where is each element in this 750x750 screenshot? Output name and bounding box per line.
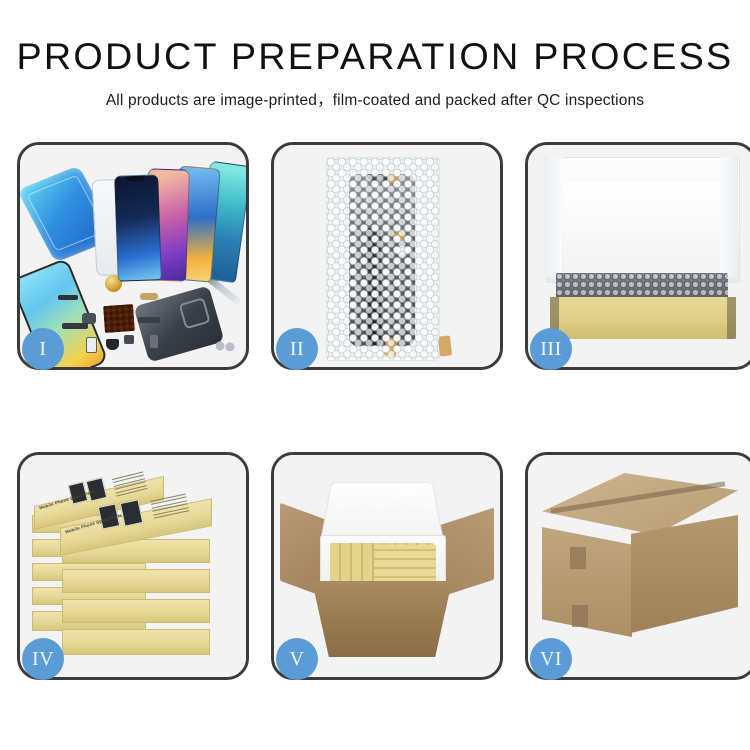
bubble-bag	[326, 157, 440, 361]
carton-tape-top	[570, 547, 586, 569]
step-badge-6: VI	[530, 638, 572, 680]
retail-box-fr-2	[62, 569, 210, 593]
component-chip-1	[58, 295, 78, 300]
phone-fan-group	[116, 159, 246, 281]
step-panel-5[interactable]: V	[271, 452, 503, 680]
phone-icon-1	[114, 174, 162, 281]
step-badge-1: I	[22, 328, 64, 370]
tape-piece-4	[438, 335, 452, 356]
product-preparation-infographic: PRODUCT PREPARATION PROCESS All products…	[0, 0, 750, 750]
process-steps-grid: I II	[17, 142, 733, 680]
shipping-carton-body	[312, 581, 452, 657]
retail-box-stack: Mobile Phone Spare Parts Mobile Phone Sp…	[30, 477, 238, 667]
logic-board-icon	[103, 304, 135, 333]
sealed-carton-right-face	[631, 515, 738, 633]
step-panel-1[interactable]: I	[17, 142, 249, 370]
packed-retail-boxes-stack	[374, 545, 436, 585]
component-chip-7	[124, 335, 134, 344]
component-chip-4	[138, 317, 160, 323]
step-badge-2: II	[276, 328, 318, 370]
component-chip-8	[150, 335, 158, 348]
kraft-box-base	[550, 297, 736, 339]
foam-lid	[546, 157, 740, 283]
page-title: PRODUCT PREPARATION PROCESS	[0, 38, 750, 75]
step-badge-5: V	[276, 638, 318, 680]
page-subtitle: All products are image-printed，film-coat…	[0, 88, 750, 110]
foam-lid-flap-right	[720, 157, 738, 277]
component-chip-3	[140, 293, 158, 300]
carton-tape-bottom	[572, 605, 588, 627]
retail-box-fr-4	[62, 629, 210, 655]
step-panel-3[interactable]: III	[525, 142, 750, 370]
step-badge-4: IV	[22, 638, 64, 680]
step-panel-4[interactable]: Mobile Phone Spare Parts Mobile Phone Sp…	[17, 452, 249, 680]
component-chip-9	[62, 323, 88, 329]
step-panel-6[interactable]: VI	[525, 452, 750, 680]
foam-lid-flap-left	[544, 157, 562, 277]
header: PRODUCT PREPARATION PROCESS All products…	[0, 0, 750, 110]
step-panel-2[interactable]: II	[271, 142, 503, 370]
step-badge-3: III	[530, 328, 572, 370]
component-chip-6	[106, 339, 119, 350]
component-chip-5	[86, 337, 97, 353]
screws-icon	[216, 341, 236, 351]
retail-box-fr-3	[62, 599, 210, 623]
bubble-wrap-texture	[327, 158, 439, 360]
